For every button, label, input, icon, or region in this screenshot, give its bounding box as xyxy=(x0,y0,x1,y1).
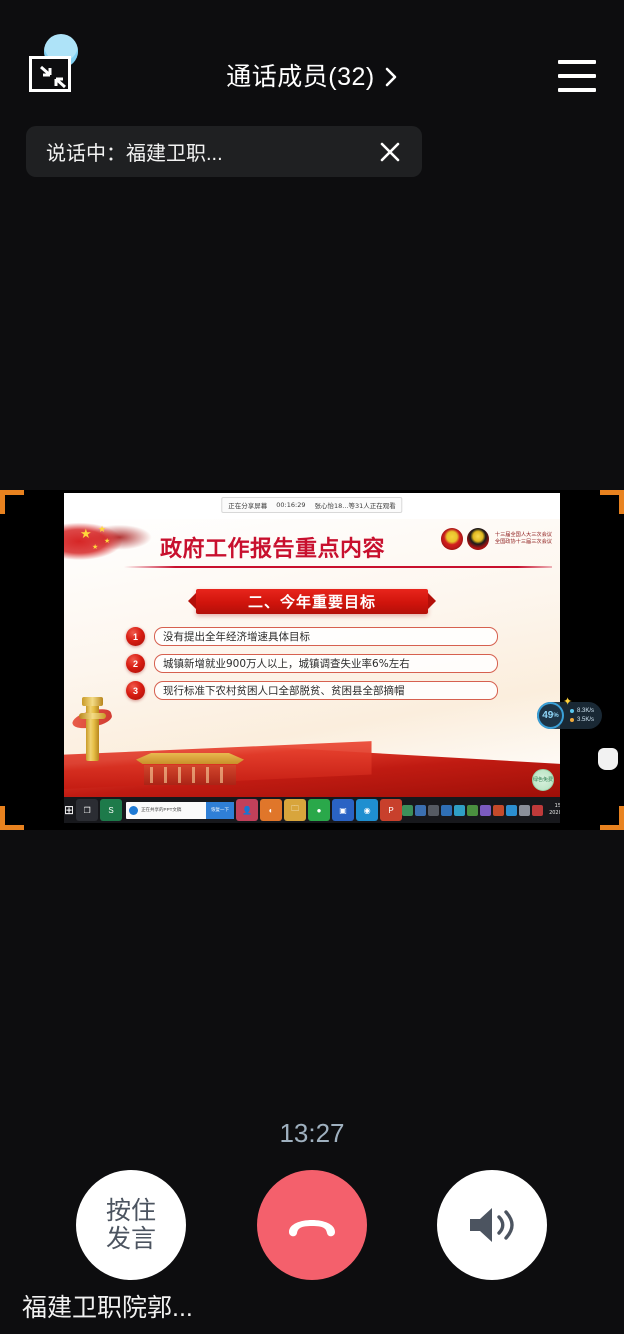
speaking-banner[interactable]: 说话中：福建卫职... xyxy=(26,126,422,177)
presentation-slide: ★ ★ ★ ★ 政府工作报告重点内容 十三届全国人大三次会议 全国政协十三届三次… xyxy=(64,519,560,797)
self-display-name: 福建卫职院郭... xyxy=(22,1288,193,1324)
star-icon: ★ xyxy=(80,529,92,538)
network-download-speed: 3.5K/s xyxy=(577,716,594,725)
tray-icon-bell[interactable] xyxy=(415,805,426,816)
call-screen: 通话成员(32) 说话中：福建卫职... xyxy=(0,0,624,1334)
emblem-caption: 十三届全国人大三次会议 全国政协十三届三次会议 xyxy=(493,532,552,546)
screen-share-status-pill: 正在分享屏幕 00:16:29 张心怡18...等31人正在观看 xyxy=(221,497,402,513)
network-percent-ring: 49% xyxy=(537,702,564,729)
gate-column xyxy=(164,767,167,783)
emblem-caption-line1: 十三届全国人大三次会议 xyxy=(495,532,552,539)
network-speed-widget[interactable]: ✦ 49% 8.3K/s 3.5K/s xyxy=(537,702,602,729)
app-icon-store[interactable]: ▣ xyxy=(332,799,354,821)
push-to-talk-button[interactable]: 按住 发言 xyxy=(76,1170,186,1280)
task-view-icon[interactable]: ❐ xyxy=(76,799,98,821)
call-members-title[interactable]: 通话成员(32) xyxy=(0,62,624,92)
list-item: 3 现行标准下农村贫困人口全部脱贫、贫困县全部摘帽 xyxy=(126,681,498,700)
taskbar-window-tab[interactable]: 恢复一下 xyxy=(206,802,234,819)
speaking-banner-text: 说话中：福建卫职... xyxy=(46,137,223,166)
speaker-on-icon xyxy=(464,1201,520,1249)
bullet-number: 2 xyxy=(126,654,145,673)
gate-column xyxy=(192,767,195,783)
network-percent-value: 49 xyxy=(542,710,553,721)
national-emblem-icon xyxy=(441,528,463,550)
hangup-phone-icon xyxy=(285,1210,339,1240)
bullet-text: 没有提出全年经济增速具体目标 xyxy=(154,627,498,646)
cppcc-emblem-icon xyxy=(467,528,489,550)
tiananmen-gate-icon xyxy=(136,753,244,787)
app-icon-edge[interactable]: ◉ xyxy=(356,799,378,821)
system-tray[interactable]: 15:16 2020/1/21 xyxy=(402,803,560,817)
gate-column xyxy=(220,767,223,783)
tray-icon-globe[interactable] xyxy=(454,805,465,816)
share-viewers: 张心怡18...等31人正在观看 xyxy=(314,500,395,510)
tray-icon-shield[interactable] xyxy=(402,805,413,816)
download-arrow-icon xyxy=(570,718,574,722)
tray-icon-cloud[interactable] xyxy=(506,805,517,816)
shared-screen-region[interactable]: 正在分享屏幕 00:16:29 张心怡18...等31人正在观看 ★ ★ ★ ★… xyxy=(0,490,624,830)
star-icon: ★ xyxy=(98,525,106,534)
corner-bracket-top-right xyxy=(600,490,624,514)
gate-body xyxy=(144,765,236,785)
windows-taskbar[interactable]: ⊞ ❐ S 正在共享的PPT文稿 恢复一下 👤 ◐ 🗀 ● ▣ ◉ P xyxy=(64,797,560,823)
conference-emblems: 十三届全国人大三次会议 全国政协十三届三次会议 xyxy=(441,528,552,550)
tray-icon-sync[interactable] xyxy=(480,805,491,816)
taskbar-window-title: 正在共享的PPT文稿 xyxy=(141,807,181,813)
call-controls: 按住 发言 xyxy=(0,1170,624,1280)
gate-roof xyxy=(136,753,244,764)
network-upload-speed: 8.3K/s xyxy=(577,707,594,716)
bullet-text: 城镇新增就业900万人以上，城镇调查失业率6%左右 xyxy=(154,654,498,673)
close-icon[interactable] xyxy=(378,140,402,164)
star-icon: ★ xyxy=(92,543,98,552)
tray-icon-clock[interactable] xyxy=(428,805,439,816)
tray-icon-doc[interactable] xyxy=(441,805,452,816)
slide-bullet-list: 1 没有提出全年经济增速具体目标 2 城镇新增就业900万人以上，城镇调查失业率… xyxy=(126,627,498,708)
share-duration: 00:16:29 xyxy=(276,501,305,509)
app-icon-green[interactable]: S xyxy=(100,799,122,821)
app-icon-explorer[interactable]: 🗀 xyxy=(284,799,306,821)
corner-bracket-bottom-right xyxy=(600,806,624,830)
bullet-number: 1 xyxy=(126,627,145,646)
corner-bracket-top-left xyxy=(0,490,24,514)
network-upload-row: 8.3K/s xyxy=(570,707,594,716)
tray-icon-update[interactable] xyxy=(493,805,504,816)
network-percent-unit: % xyxy=(553,713,558,719)
gate-column xyxy=(206,767,209,783)
header-divider xyxy=(124,566,552,568)
hangup-button[interactable] xyxy=(257,1170,367,1280)
taskbar-window-button[interactable]: 正在共享的PPT文稿 恢复一下 xyxy=(126,802,234,819)
floating-assistant-icon[interactable] xyxy=(598,748,618,770)
huabiao-pillar-icon xyxy=(86,703,99,761)
push-to-talk-line2: 发言 xyxy=(106,1225,156,1253)
app-icon-contacts[interactable]: 👤 xyxy=(236,799,258,821)
push-to-talk-line1: 按住 xyxy=(106,1197,156,1225)
gate-column xyxy=(178,767,181,783)
windows-start-icon[interactable]: ⊞ xyxy=(64,797,74,823)
bullet-number: 3 xyxy=(126,681,145,700)
list-item: 2 城镇新增就业900万人以上，城镇调查失业率6%左右 xyxy=(126,654,498,673)
list-item: 1 没有提出全年经济增速具体目标 xyxy=(126,627,498,646)
network-speed-values: 8.3K/s 3.5K/s xyxy=(570,707,594,725)
call-timer: 13:27 xyxy=(0,1118,624,1149)
app-icon-firefox[interactable]: ◐ xyxy=(260,799,282,821)
network-download-row: 3.5K/s xyxy=(570,716,594,725)
call-members-label: 通话成员(32) xyxy=(226,62,374,92)
tray-icon-security[interactable] xyxy=(532,805,543,816)
gate-column xyxy=(150,767,153,783)
app-icon-powerpoint[interactable]: P xyxy=(380,799,402,821)
chevron-right-icon xyxy=(384,66,398,88)
taskbar-clock-date: 2020/1/21 xyxy=(549,810,560,817)
slide-title: 政府工作报告重点内容 xyxy=(160,531,385,563)
star-icon: ✦ xyxy=(563,695,572,708)
slide-section-banner: 二、今年重要目标 xyxy=(196,589,428,614)
hamburger-line xyxy=(558,60,596,64)
shared-desktop: 正在分享屏幕 00:16:29 张心怡18...等31人正在观看 ★ ★ ★ ★… xyxy=(64,493,560,823)
app-icon-wechat[interactable]: ● xyxy=(308,799,330,821)
push-to-talk-label: 按住 发言 xyxy=(106,1197,156,1253)
taskbar-clock-time: 15:16 xyxy=(549,803,560,810)
upload-arrow-icon xyxy=(570,709,574,713)
tray-icon-volume[interactable] xyxy=(519,805,530,816)
speaker-button[interactable] xyxy=(437,1170,547,1280)
share-status-label: 正在分享屏幕 xyxy=(228,500,267,510)
edge-icon xyxy=(129,806,138,815)
bullet-text: 现行标准下农村贫困人口全部脱贫、贫困县全部摘帽 xyxy=(154,681,498,700)
hamburger-line xyxy=(558,74,596,78)
hamburger-menu-icon[interactable] xyxy=(558,60,596,92)
star-icon: ★ xyxy=(104,537,110,546)
emblem-caption-line2: 全国政协十三届三次会议 xyxy=(495,539,552,546)
slide-header: ★ ★ ★ ★ 政府工作报告重点内容 十三届全国人大三次会议 全国政协十三届三次… xyxy=(64,519,560,573)
taskbar-clock[interactable]: 15:16 2020/1/21 xyxy=(549,803,560,817)
corner-bracket-bottom-left xyxy=(0,806,24,830)
hamburger-line xyxy=(558,88,596,92)
slide-watermark: 绿色免费 xyxy=(532,769,554,791)
top-bar: 通话成员(32) xyxy=(0,0,624,118)
tray-icon-download[interactable] xyxy=(467,805,478,816)
